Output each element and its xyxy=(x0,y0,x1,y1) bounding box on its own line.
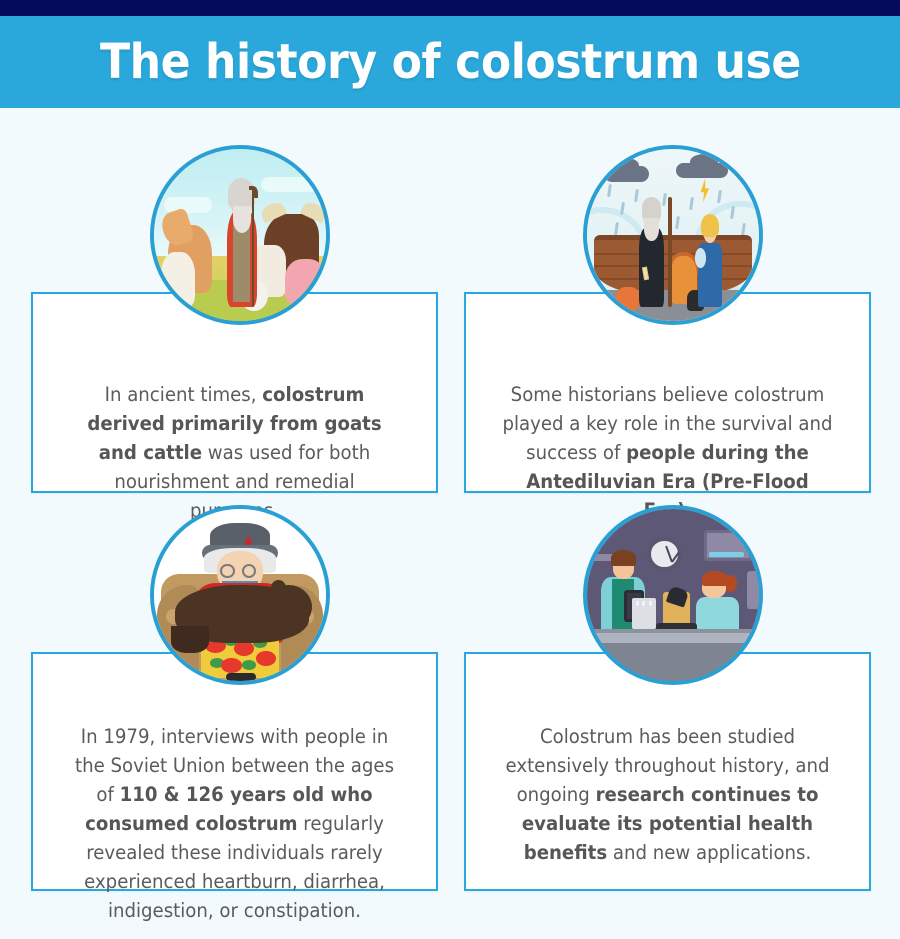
russian-babushka-with-bear-cub-illustration xyxy=(150,505,330,685)
noahs-ark-in-rain-illustration xyxy=(583,145,763,325)
card-box: Colostrum has been studied extensively t… xyxy=(464,652,871,891)
top-navy-bar xyxy=(0,0,900,16)
card-modern-research: Colostrum has been studied extensively t… xyxy=(464,505,871,891)
test-tube-rack-icon xyxy=(632,598,656,629)
card-text: In ancient times, colostrum derived prim… xyxy=(68,380,402,525)
cards-grid: In ancient times, colostrum derived prim… xyxy=(0,108,900,939)
card-antediluvian-era: Some historians believe colostrum played… xyxy=(464,145,871,493)
card-text: Colostrum has been studied extensively t… xyxy=(501,722,835,867)
page-title: The history of colostrum use xyxy=(100,34,801,90)
ancient-shepherd-with-livestock-illustration xyxy=(150,145,330,325)
header-band: The history of colostrum use xyxy=(0,16,900,108)
card-text: Some historians believe colostrum played… xyxy=(501,380,835,525)
card-text: In 1979, interviews with people in the S… xyxy=(68,722,402,925)
card-box: In 1979, interviews with people in the S… xyxy=(31,652,438,891)
card-text-part: and new applications. xyxy=(607,841,811,864)
card-soviet-union-1979: In 1979, interviews with people in the S… xyxy=(31,505,438,891)
card-ancient-times: In ancient times, colostrum derived prim… xyxy=(31,145,438,493)
card-text-part: In ancient times, xyxy=(105,383,263,406)
laboratory-scientists-illustration xyxy=(583,505,763,685)
